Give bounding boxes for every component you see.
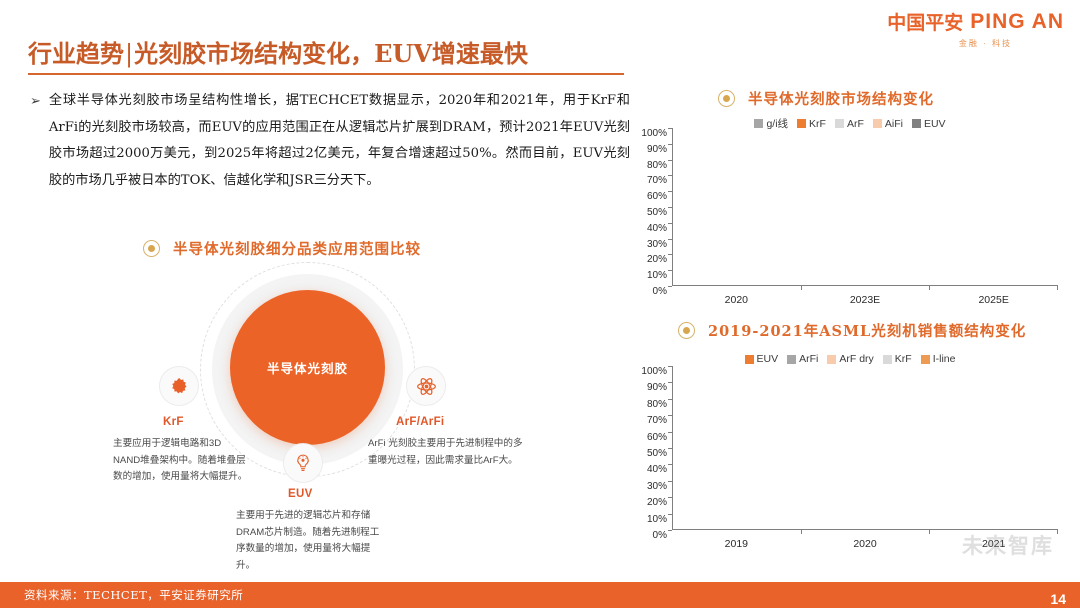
bullet-ring-icon	[678, 322, 695, 339]
logo-tagline: 金融 · 科技	[887, 38, 1012, 49]
legend-swatch-icon	[745, 355, 754, 364]
node-label-arf: ArF/ArFi	[396, 416, 444, 428]
page-number: 14	[1050, 591, 1066, 607]
legend-swatch-icon	[912, 119, 921, 128]
node-label-krf: KrF	[163, 416, 184, 428]
x-axis-tick-label: 2020	[725, 294, 748, 306]
y-axis-tick	[668, 481, 672, 482]
x-axis-tick-label: 2020	[853, 538, 876, 550]
y-axis-tick	[668, 432, 672, 433]
title-underline	[28, 73, 624, 75]
legend-label: EUV	[757, 353, 779, 365]
chart-1-plot: 0%10%20%30%40%50%60%70%80%90%100%2020202…	[634, 128, 1064, 308]
y-axis-tick	[668, 223, 672, 224]
bullet-ring-icon	[143, 240, 160, 257]
y-axis-line	[672, 128, 673, 286]
logo-chinese-name: 中国平安	[887, 8, 963, 35]
chart-1-title: 半导体光刻胶市场结构变化	[748, 88, 934, 109]
y-axis-tick	[668, 514, 672, 515]
y-axis-tick	[668, 286, 672, 287]
legend-swatch-icon	[883, 355, 892, 364]
y-axis-tick	[668, 448, 672, 449]
y-axis-tick	[668, 464, 672, 465]
chart-2-title: 2019-2021年ASML光刻机销售额结构变化	[708, 320, 1026, 341]
y-axis-line	[672, 366, 673, 530]
y-axis-tick	[668, 175, 672, 176]
x-axis-line	[672, 529, 1058, 530]
page-title-separator: |	[124, 40, 134, 68]
slide-root: 中国平安 PING AN 金融 · 科技 行业趋势|光刻胶市场结构变化，EUV增…	[0, 0, 1080, 608]
diagram-core: 半导体光刻胶	[230, 290, 385, 445]
y-axis-tick	[668, 270, 672, 271]
pingan-logo: 中国平安 PING AN 金融 · 科技	[887, 8, 1064, 49]
y-axis-tick	[668, 530, 672, 531]
legend-label: KrF	[895, 353, 912, 365]
chart-1-heading: 半导体光刻胶市场结构变化	[718, 88, 934, 109]
legend-label: ArFi	[799, 353, 818, 365]
legend-item[interactable]: I-line	[921, 353, 956, 365]
x-axis-tick-label: 2023E	[850, 294, 880, 306]
body-bullet: ➢ 全球半导体光刻胶市场呈结构性增长，据TECHCET数据显示，2020年和20…	[30, 88, 630, 194]
plot-area: 0%10%20%30%40%50%60%70%80%90%100%2020202…	[672, 128, 1058, 286]
page-title: 行业趋势|光刻胶市场结构变化，EUV增速最快	[28, 34, 648, 69]
x-axis-line	[672, 285, 1058, 286]
bullet-ring-icon	[718, 90, 735, 107]
logo-english-name: PING AN	[970, 10, 1064, 34]
y-axis-tick	[668, 415, 672, 416]
chart-2-legend: EUVArFiArF dryKrFI-line	[705, 353, 995, 365]
footer-source: 资料来源：TECHCET，平安证券研究所	[24, 587, 243, 603]
y-axis-tick	[668, 207, 672, 208]
diagram-core-label: 半导体光刻胶	[267, 358, 348, 377]
node-label-euv: EUV	[288, 488, 313, 500]
node-text-euv: 主要用于先进的逻辑芯片和存储DRAM芯片制造。随着先进制程工序数量的增加，使用量…	[236, 508, 384, 574]
y-axis-tick	[668, 239, 672, 240]
x-axis-tick-label: 2025E	[978, 294, 1008, 306]
y-axis-tick	[668, 382, 672, 383]
bullet-marker-icon: ➢	[30, 88, 41, 194]
y-axis-tick	[668, 160, 672, 161]
legend-swatch-icon	[921, 355, 930, 364]
node-text-arf: ArFi 光刻胶主要用于先进制程中的多重曝光过程，因此需求量比ArF大。	[368, 436, 528, 469]
legend-swatch-icon	[787, 355, 796, 364]
atom-icon	[406, 366, 446, 406]
legend-swatch-icon	[873, 119, 882, 128]
legend-swatch-icon	[754, 119, 763, 128]
body-paragraph: 全球半导体光刻胶市场呈结构性增长，据TECHCET数据显示，2020年和2021…	[49, 88, 630, 194]
legend-swatch-icon	[835, 119, 844, 128]
legend-item[interactable]: ArFi	[787, 353, 818, 365]
x-axis-tick	[1057, 286, 1058, 290]
x-axis-tick-label: 2019	[725, 538, 748, 550]
lightbulb-icon	[283, 443, 323, 483]
diagram-heading: 半导体光刻胶细分品类应用范围比较	[143, 238, 421, 259]
y-axis-tick	[668, 128, 672, 129]
x-axis-tick	[1057, 530, 1058, 534]
y-axis-tick	[668, 254, 672, 255]
legend-item[interactable]: ArF dry	[827, 353, 873, 365]
chart-2-plot: 0%10%20%30%40%50%60%70%80%90%100%2019202…	[634, 366, 1064, 552]
legend-label: ArF dry	[839, 353, 873, 365]
page-title-prefix: 行业趋势	[28, 39, 124, 68]
y-axis-tick	[668, 497, 672, 498]
footer-bar: 资料来源：TECHCET，平安证券研究所 14	[0, 582, 1080, 608]
y-axis-tick	[668, 144, 672, 145]
legend-label: I-line	[933, 353, 956, 365]
x-axis-tick	[929, 286, 930, 290]
y-axis-tick	[668, 191, 672, 192]
chart-2-heading: 2019-2021年ASML光刻机销售额结构变化	[678, 320, 1026, 341]
y-axis-tick	[668, 366, 672, 367]
plot-area: 0%10%20%30%40%50%60%70%80%90%100%2019202…	[672, 366, 1058, 530]
node-text-krf: 主要应用于逻辑电路和3D NAND堆叠架构中。随着堆叠层数的增加，使用量将大幅提…	[113, 436, 251, 486]
legend-item[interactable]: KrF	[883, 353, 912, 365]
x-axis-tick	[929, 530, 930, 534]
x-axis-tick-label: 2021	[982, 538, 1005, 550]
legend-swatch-icon	[797, 119, 806, 128]
diagram-heading-label: 半导体光刻胶细分品类应用范围比较	[173, 238, 421, 259]
x-axis-tick	[801, 530, 802, 534]
page-title-block: 行业趋势|光刻胶市场结构变化，EUV增速最快	[28, 34, 648, 75]
legend-swatch-icon	[827, 355, 836, 364]
x-axis-tick	[801, 286, 802, 290]
y-axis-tick	[668, 399, 672, 400]
legend-item[interactable]: EUV	[745, 353, 779, 365]
gear-icon	[159, 366, 199, 406]
page-title-main: 光刻胶市场结构变化，EUV增速最快	[134, 39, 528, 68]
